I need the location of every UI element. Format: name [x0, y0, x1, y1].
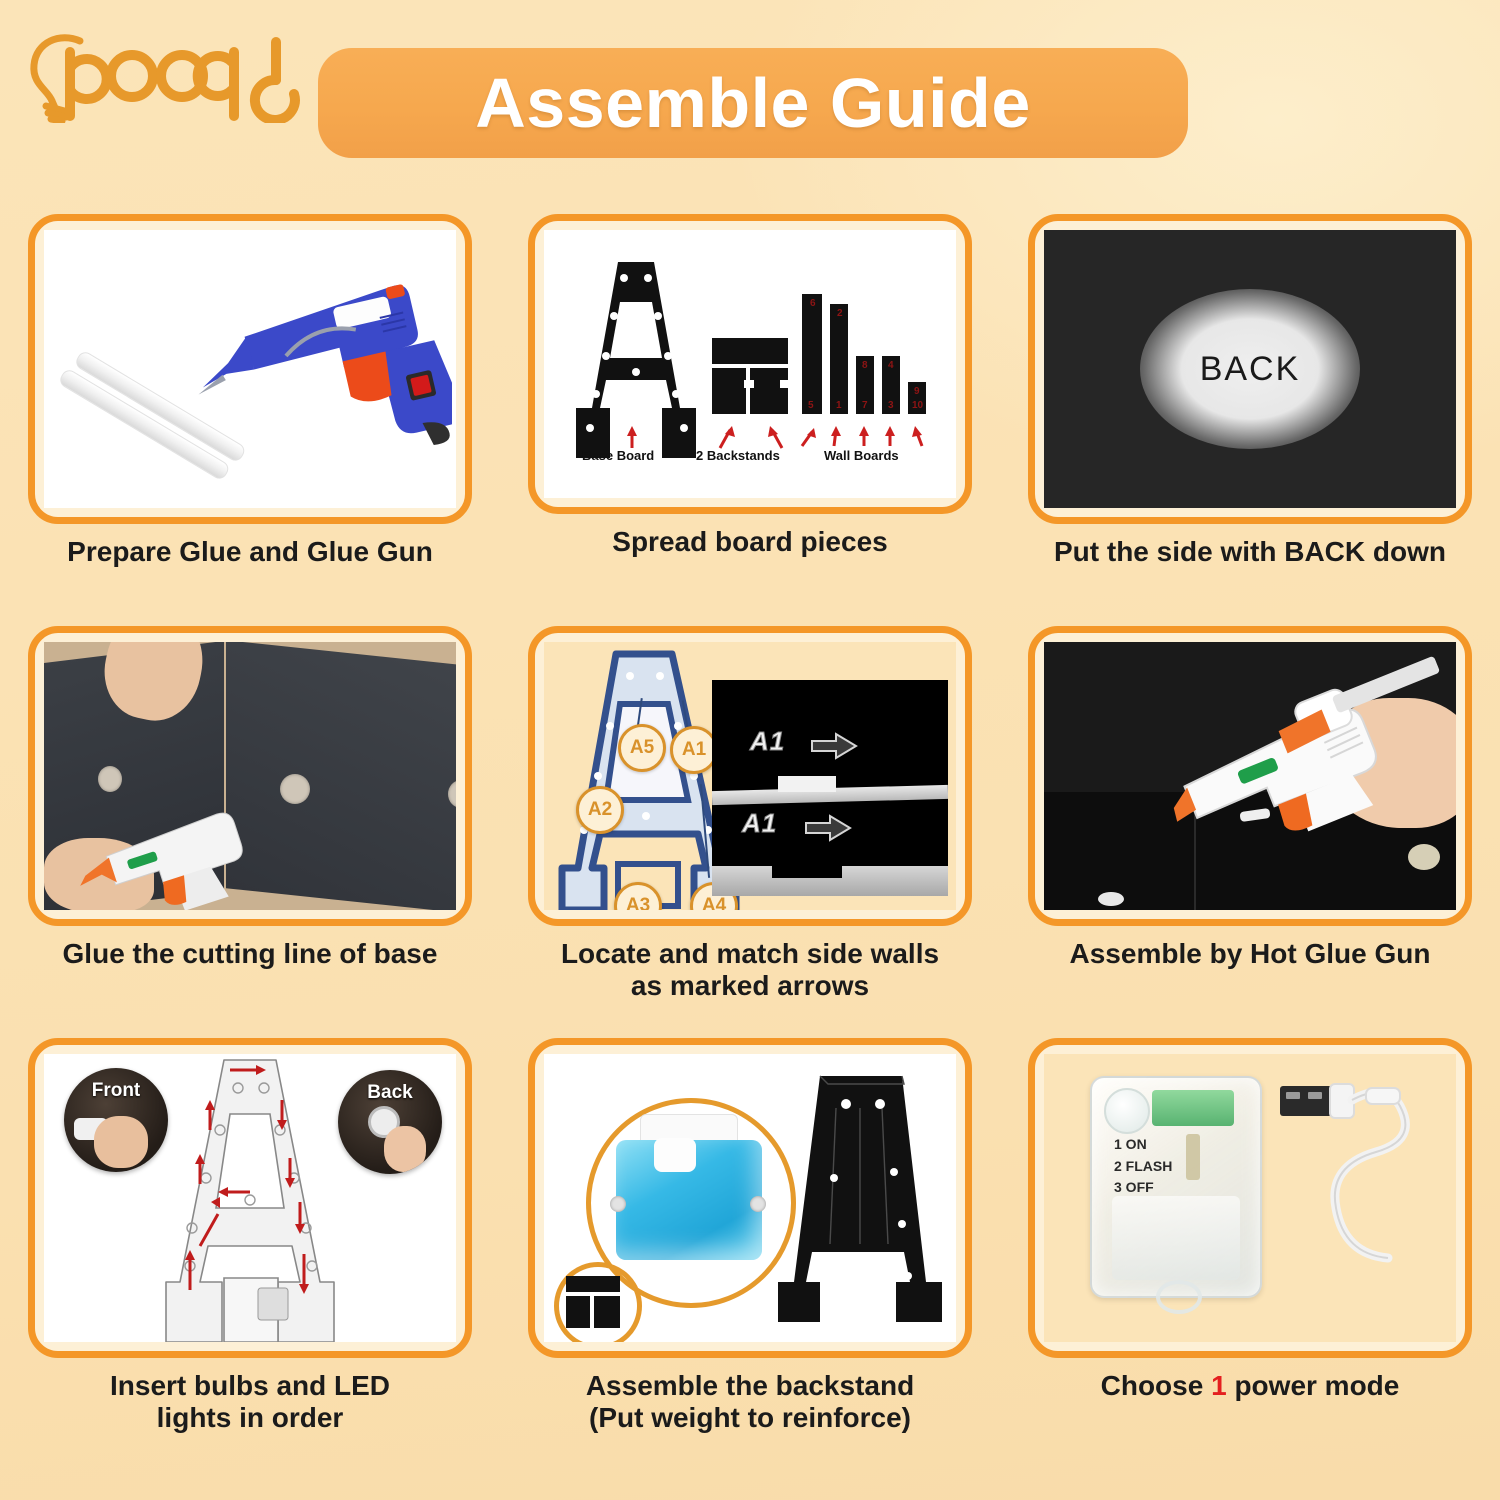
led-indicator [1104, 1088, 1150, 1134]
letter-a-outline [154, 1056, 344, 1342]
back-label: Back [338, 1082, 442, 1104]
base-marking-a1: A1 [742, 808, 777, 839]
wall-board-number: 10 [912, 400, 923, 411]
backstand-notch [780, 380, 790, 388]
backstand-inset-piece [594, 1296, 620, 1328]
page-title-banner: Assemble Guide [318, 48, 1188, 158]
step-1-caption: Prepare Glue and Glue Gun [67, 536, 433, 568]
wall-board-number: 9 [914, 386, 920, 397]
hot-glue-assembly-photo [1044, 642, 1456, 910]
step-8-panel [528, 1038, 972, 1358]
label-base-board: Base Board [582, 448, 654, 463]
steps-row-1: Prepare Glue and Glue Gun [0, 214, 1500, 626]
front-inset: Front [64, 1068, 168, 1172]
step-9-caption: Choose 1 power mode [1101, 1370, 1400, 1402]
step-5-panel: A5 A1 A2 A3 A4 A1 [528, 626, 972, 926]
step-8-caption: Assemble the backstand (Put weight to re… [586, 1370, 914, 1434]
glue-gun-illustration [44, 230, 456, 508]
step-card-2: 6 2 8 4 9 5 1 7 3 10 [500, 214, 1000, 626]
steps-grid: Prepare Glue and Glue Gun [0, 214, 1500, 1488]
step-3-panel: BACK [1028, 214, 1472, 524]
bag-handle [654, 1138, 696, 1172]
step-7-panel: Front Back [28, 1038, 472, 1358]
glue-base-photo [44, 642, 456, 910]
board-pieces-diagram: 6 2 8 4 9 5 1 7 3 10 [544, 230, 956, 498]
circuit-board [1152, 1090, 1234, 1126]
page-title: Assemble Guide [475, 63, 1031, 143]
bulb-hole [280, 774, 310, 804]
backstand-inset-piece [566, 1276, 620, 1292]
power-mode-on: 1 ON [1114, 1134, 1172, 1156]
battery-box: 1 ON 2 FLASH 3 OFF [1090, 1076, 1262, 1298]
step-8-caption-line2: (Put weight to reinforce) [586, 1402, 914, 1434]
badge-a2: A2 [576, 786, 624, 834]
step-card-1: Prepare Glue and Glue Gun [0, 214, 500, 626]
screw [610, 1196, 626, 1212]
usb-cable-icon [1278, 1078, 1428, 1298]
step-8-image [544, 1054, 956, 1342]
badge-a1: A1 [670, 726, 718, 774]
bulb-order-illustration: Front Back [44, 1054, 456, 1342]
wall-board-number: 6 [810, 298, 816, 309]
step-card-7: Front Back Insert bulbs and LED ligh [0, 1038, 500, 1488]
power-mode-flash: 2 FLASH [1114, 1156, 1172, 1178]
steps-row-2: Glue the cutting line of base [0, 626, 1500, 1038]
step-9-image: 1 ON 2 FLASH 3 OFF [1044, 1054, 1456, 1342]
step-card-3: BACK Put the side with BACK down [1000, 214, 1500, 626]
back-marking-spot: BACK [1140, 289, 1360, 449]
page-header: Assemble Guide [0, 0, 1500, 200]
brand-logo [22, 18, 312, 123]
wall-marking-a1: A1 [750, 726, 785, 757]
step-7-caption-line2: lights in order [110, 1402, 390, 1434]
badge-a5: A5 [618, 724, 666, 772]
hand [94, 1116, 148, 1168]
backstand-piece [750, 368, 788, 414]
step-9-caption-post: power mode [1227, 1370, 1400, 1401]
backstand-piece [712, 368, 746, 414]
step-9-caption-number: 1 [1211, 1370, 1227, 1401]
wall-board-6-5 [802, 294, 822, 414]
glue-gun-icon [192, 256, 452, 466]
back-inset: Back [338, 1070, 442, 1174]
wall-board-number: 3 [888, 400, 894, 411]
step-6-image [1044, 642, 1456, 910]
step-card-9: 1 ON 2 FLASH 3 OFF [1000, 1038, 1500, 1488]
hand [384, 1126, 426, 1172]
label-backstands: 2 Backstands [696, 448, 780, 463]
steps-row-3: Front Back Insert bulbs and LED ligh [0, 1038, 1500, 1488]
wall-board-number: 8 [862, 360, 868, 371]
step-9-panel: 1 ON 2 FLASH 3 OFF [1028, 1038, 1472, 1358]
step-6-panel [1028, 626, 1472, 926]
right-arrow-icon [804, 814, 852, 842]
backstand-assembly-photo [544, 1054, 956, 1342]
wall-board-number: 4 [888, 360, 894, 371]
step-7-caption-line1: Insert bulbs and LED [110, 1370, 390, 1402]
step-card-6: Assemble by Hot Glue Gun [1000, 626, 1500, 1038]
base-board-notch [772, 856, 842, 878]
hanging-loop [1156, 1280, 1202, 1314]
step-7-image: Front Back [44, 1054, 456, 1342]
step-3-image: BACK [1044, 230, 1456, 508]
backstand-piece [712, 338, 788, 364]
wall-board-number: 1 [836, 400, 842, 411]
step-9-caption-pre: Choose [1101, 1370, 1211, 1401]
wall-board-2-1 [830, 304, 848, 414]
side-walls-illustration: A5 A1 A2 A3 A4 A1 [544, 642, 956, 910]
step-1-panel [28, 214, 472, 524]
front-label: Front [64, 1080, 168, 1102]
step-4-image [44, 642, 456, 910]
step-5-caption: Locate and match side walls as marked ar… [561, 938, 939, 1002]
lightbulb-icon [22, 18, 312, 123]
power-mode-list: 1 ON 2 FLASH 3 OFF [1114, 1134, 1172, 1199]
step-card-8: Assemble the backstand (Put weight to re… [500, 1038, 1000, 1488]
label-wall-boards: Wall Boards [824, 448, 899, 463]
backstand-inset-piece [566, 1296, 590, 1328]
step-5-image: A5 A1 A2 A3 A4 A1 [544, 642, 956, 910]
bulb-cap [1408, 844, 1440, 870]
step-2-caption: Spread board pieces [612, 526, 887, 558]
step-5-caption-line2: as marked arrows [561, 970, 939, 1002]
step-6-caption: Assemble by Hot Glue Gun [1070, 938, 1431, 970]
step-4-caption: Glue the cutting line of base [63, 938, 438, 970]
wall-board-number: 7 [862, 400, 868, 411]
step-2-image: 6 2 8 4 9 5 1 7 3 10 [544, 230, 956, 498]
step-4-panel [28, 626, 472, 926]
backstand-pieces-icon [776, 1068, 946, 1338]
back-label: BACK [1200, 350, 1301, 389]
step-1-image [44, 230, 456, 508]
backstand-notch [744, 380, 754, 388]
bulb-cap [1098, 892, 1124, 906]
right-arrow-icon [810, 732, 858, 760]
switch [1186, 1134, 1200, 1180]
step-3-caption: Put the side with BACK down [1054, 536, 1446, 568]
wall-board-tab [778, 776, 836, 792]
matching-arrows-photo: A1 A1 [712, 680, 948, 896]
wall-board-number: 5 [808, 400, 814, 411]
step-card-4: Glue the cutting line of base [0, 626, 500, 1038]
step-7-caption: Insert bulbs and LED lights in order [110, 1370, 390, 1434]
step-8-caption-line1: Assemble the backstand [586, 1370, 914, 1402]
step-card-5: A5 A1 A2 A3 A4 A1 [500, 626, 1000, 1038]
wall-board-number: 2 [837, 308, 843, 319]
screw [750, 1196, 766, 1212]
step-5-caption-line1: Locate and match side walls [561, 938, 939, 970]
power-mode-photo: 1 ON 2 FLASH 3 OFF [1044, 1054, 1456, 1342]
bulb-hole [98, 766, 122, 792]
step-2-panel: 6 2 8 4 9 5 1 7 3 10 [528, 214, 972, 514]
battery-compartment [1112, 1196, 1240, 1280]
